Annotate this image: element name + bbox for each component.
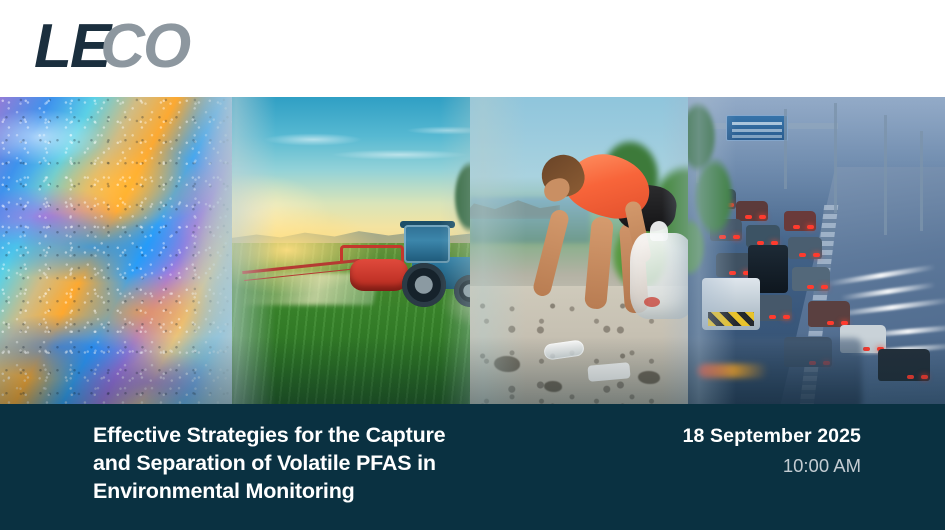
tractor-cab [404,225,450,263]
light-pole [920,131,923,231]
footer-bar: Effective Strategies for the Capture and… [0,404,945,530]
webinar-banner: LECO [0,0,945,530]
tractor-rear-wheel [402,263,446,307]
debris-rock [494,356,520,372]
debris-rock [638,371,660,384]
logo-text-secondary: CO [100,16,189,78]
background-sea [470,197,590,243]
webinar-time: 10:00 AM [683,455,861,477]
title-line-3: Environmental Monitoring [93,478,593,506]
logo-text-primary: LE [34,16,109,78]
header-bar: LECO [0,0,945,97]
trash-bag [630,233,694,319]
panel-highway-traffic [688,97,945,404]
title-line-2: and Separation of Volatile PFAS in [93,450,593,478]
hero-image-collage [0,97,945,404]
sprayer-tank [350,259,408,291]
light-pole [784,109,787,189]
queued-car [808,301,850,327]
queued-car [736,201,768,221]
queued-car [746,225,780,247]
webinar-date: 18 September 2025 [683,424,861,448]
maintenance-truck [702,278,760,330]
panel-litter-collection [470,97,705,404]
roadside-trees [688,97,736,277]
webinar-schedule: 18 September 2025 10:00 AM [683,424,861,478]
queued-car [878,349,930,381]
queued-car [788,237,822,259]
debris-rock [544,381,562,392]
title-line-1: Effective Strategies for the Capture [93,422,593,450]
leco-logo: LECO [34,16,189,78]
brake-light-blur [698,364,768,378]
queued-car [792,267,830,291]
queued-car [784,211,816,231]
light-pole [884,115,887,235]
light-pole [834,103,837,213]
webinar-title: Effective Strategies for the Capture and… [93,422,593,506]
